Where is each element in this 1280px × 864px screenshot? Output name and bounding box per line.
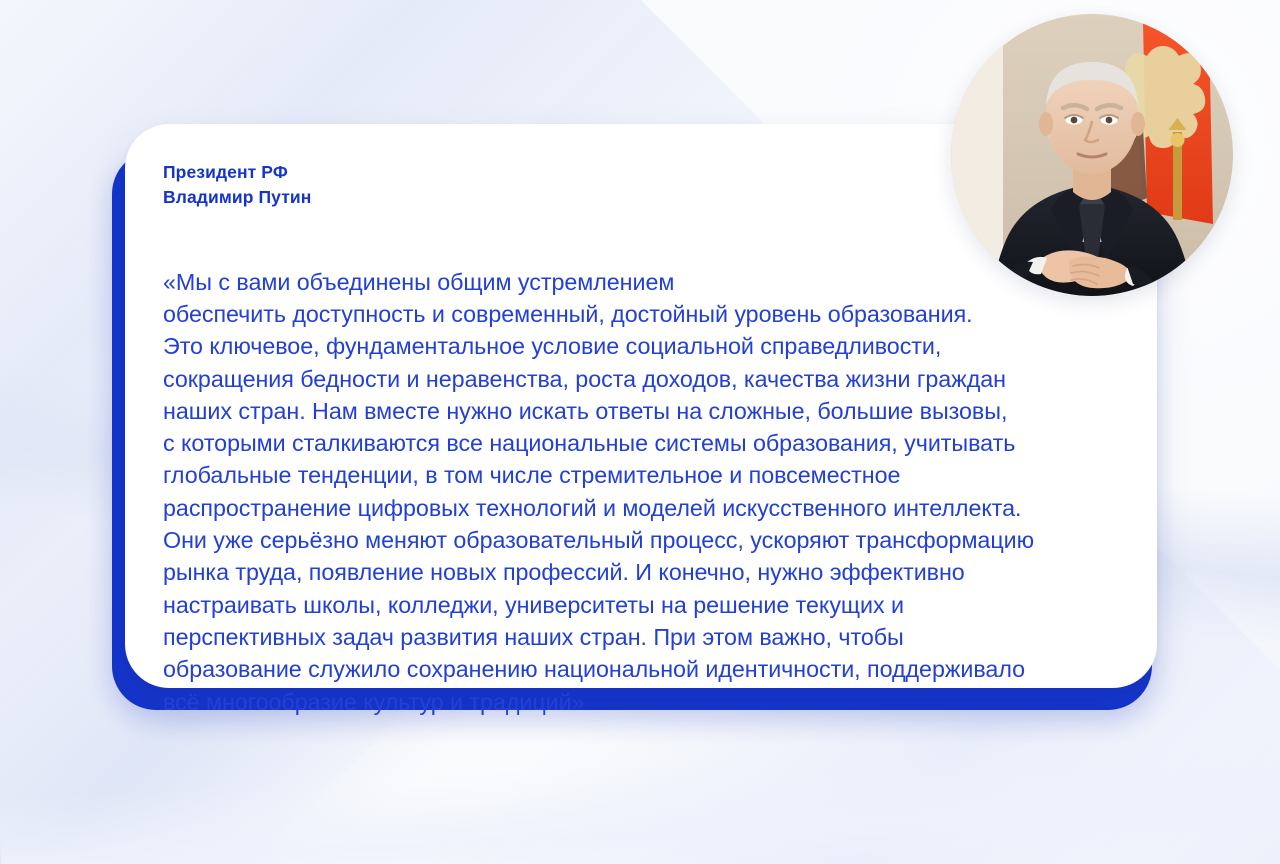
quote-line: обеспечить доступность и современный, до… xyxy=(163,298,1119,330)
quote-line: «Мы с вами объединены общим устремлением xyxy=(163,266,1119,298)
quote-card-graphic: Президент РФ Владимир Путин «Мы с вами о… xyxy=(0,0,1280,864)
quote-line: с которыми сталкиваются все национальные… xyxy=(163,427,1119,459)
quote-line: перспективных задач развития наших стран… xyxy=(163,621,1119,653)
quote-line: рынка труда, появление новых профессий. … xyxy=(163,556,1119,588)
quote-line: распространение цифровых технологий и мо… xyxy=(163,492,1119,524)
quote-line: образование служило сохранению националь… xyxy=(163,653,1119,685)
quote-line: Это ключевое, фундаментальное условие со… xyxy=(163,330,1119,362)
quote-line: сокращения бедности и неравенства, роста… xyxy=(163,363,1119,395)
quote-line: Они уже серьёзно меняют образовательный … xyxy=(163,524,1119,556)
quote-line: настраивать школы, колледжи, университет… xyxy=(163,589,1119,621)
portrait-photo xyxy=(951,14,1233,296)
horizontal-band-2 xyxy=(0,723,1280,864)
quote-line: наших стран. Нам вместе нужно искать отв… xyxy=(163,395,1119,427)
quote-text: «Мы с вами объединены общим устремлением… xyxy=(163,210,1119,718)
quote-line: глобальные тенденции, в том числе стреми… xyxy=(163,459,1119,491)
quote-line: всё многообразие культур и традиций» xyxy=(163,686,1119,718)
